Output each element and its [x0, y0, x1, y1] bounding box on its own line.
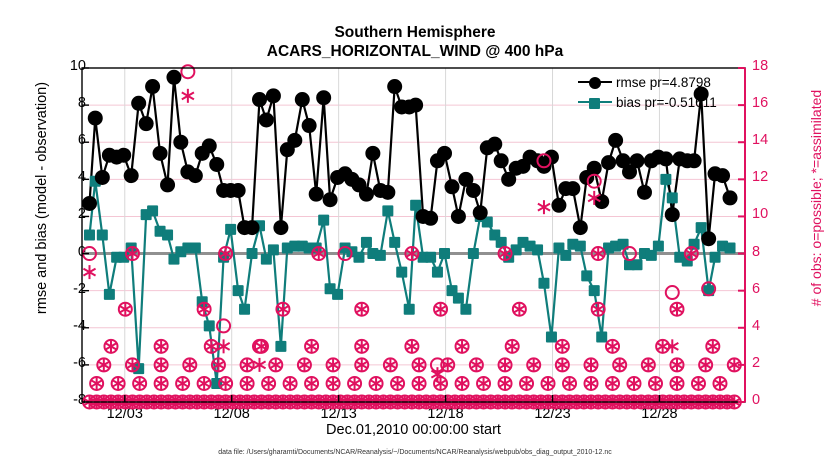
bias-marker [667, 192, 678, 203]
rmse-marker [494, 153, 509, 168]
rmse-marker [188, 168, 203, 183]
rmse-marker [166, 70, 181, 85]
rmse-marker [309, 187, 324, 202]
chart-legend: rmse pr=4.8798 bias pr=-0.51611 [578, 72, 717, 112]
obs-possible-marker [181, 65, 194, 78]
bias-marker [190, 242, 201, 253]
rmse-marker [295, 92, 310, 107]
rmse-marker [466, 183, 481, 198]
rmse-marker [153, 146, 168, 161]
rmse-marker [701, 231, 716, 246]
rmse-marker [323, 192, 338, 207]
rmse-marker [608, 133, 623, 148]
obs-assimilated-marker [538, 200, 550, 214]
rmse-marker [95, 170, 110, 185]
rmse-marker [687, 153, 702, 168]
bias-marker [382, 205, 393, 216]
bias-marker [596, 332, 607, 343]
bias-marker [396, 267, 407, 278]
rmse-marker [252, 92, 267, 107]
legend-swatch-bias [578, 101, 612, 103]
rmse-marker [551, 198, 566, 213]
bias-marker [532, 244, 543, 255]
rmse-marker [437, 146, 452, 161]
bias-marker [353, 252, 364, 263]
bias-marker [581, 270, 592, 281]
legend-label-bias: bias pr=-0.51611 [616, 95, 717, 110]
rmse-marker [209, 157, 224, 172]
rmse-marker [116, 148, 131, 163]
rmse-marker [587, 161, 602, 176]
rmse-marker [139, 116, 154, 131]
bias-marker [275, 341, 286, 352]
obs-assimilated-marker [182, 89, 194, 103]
bias-marker [375, 250, 386, 261]
rmse-marker [637, 185, 652, 200]
rmse-marker [82, 196, 97, 211]
bias-marker [660, 174, 671, 185]
bias-marker [453, 293, 464, 304]
bias-marker [410, 200, 421, 211]
rmse-marker [380, 185, 395, 200]
rmse-marker [573, 220, 588, 235]
bias-marker [710, 252, 721, 263]
rmse-marker [259, 112, 274, 127]
rmse-marker [202, 138, 217, 153]
plot-canvas [0, 0, 830, 470]
bias-marker [147, 205, 158, 216]
bias-marker [575, 241, 586, 252]
rmse-marker [173, 135, 188, 150]
bias-marker [239, 304, 250, 315]
bias-marker [361, 237, 372, 248]
bias-marker [318, 215, 329, 226]
rmse-marker [131, 96, 146, 111]
rmse-marker [273, 220, 288, 235]
legend-label-rmse: rmse pr=4.8798 [616, 75, 711, 90]
bias-marker [404, 304, 415, 315]
bias-marker [546, 332, 557, 343]
bias-marker [439, 248, 450, 259]
rmse-marker [601, 155, 616, 170]
bias-marker [653, 241, 664, 252]
bias-marker [632, 259, 643, 270]
rmse-marker [387, 79, 402, 94]
bias-marker [332, 289, 343, 300]
rmse-marker [160, 177, 175, 192]
rmse-marker [487, 137, 502, 152]
rmse-marker [473, 205, 488, 220]
bias-marker [204, 320, 215, 331]
rmse-marker [715, 168, 730, 183]
rmse-marker [266, 88, 281, 103]
legend-swatch-rmse [578, 81, 612, 83]
rmse-marker [316, 90, 331, 105]
bias-marker [468, 248, 479, 259]
rmse-marker [423, 211, 438, 226]
rmse-marker [287, 133, 302, 148]
bias-marker [268, 244, 279, 255]
bias-marker [432, 267, 443, 278]
bias-marker [389, 237, 400, 248]
obs-assimilated-marker [83, 265, 95, 279]
rmse-marker [359, 187, 374, 202]
bias-marker [97, 230, 108, 241]
bias-marker [460, 304, 471, 315]
rmse-marker [445, 179, 460, 194]
rmse-marker [565, 181, 580, 196]
rmse-marker [665, 207, 680, 222]
rmse-marker [365, 146, 380, 161]
bias-marker [247, 248, 258, 259]
bias-marker [725, 242, 736, 253]
rmse-marker [124, 168, 139, 183]
bias-marker [84, 230, 95, 241]
rmse-marker [88, 111, 103, 126]
rmse-marker [302, 118, 317, 133]
legend-item-rmse: rmse pr=4.8798 [578, 72, 717, 92]
rmse-marker [145, 79, 160, 94]
obs-possible-marker [666, 286, 679, 299]
bias-marker [425, 252, 436, 263]
rmse-marker [658, 151, 673, 166]
bias-marker [538, 278, 549, 289]
legend-item-bias: bias pr=-0.51611 [578, 92, 717, 112]
bias-marker [104, 289, 115, 300]
rmse-marker [231, 183, 246, 198]
rmse-marker [451, 209, 466, 224]
data-file-caption: data file: /Users/gharamti/Documents/NCA… [0, 449, 830, 456]
bias-marker [696, 222, 707, 233]
rmse-marker [723, 190, 738, 205]
bias-marker [162, 230, 173, 241]
rmse-marker [245, 220, 260, 235]
rmse-marker [408, 98, 423, 113]
bias-marker [589, 285, 600, 296]
rmse-marker [544, 150, 559, 165]
bias-marker [225, 224, 236, 235]
bias-marker [233, 285, 244, 296]
bias-marker [560, 250, 571, 261]
rmse-marker [630, 153, 645, 168]
